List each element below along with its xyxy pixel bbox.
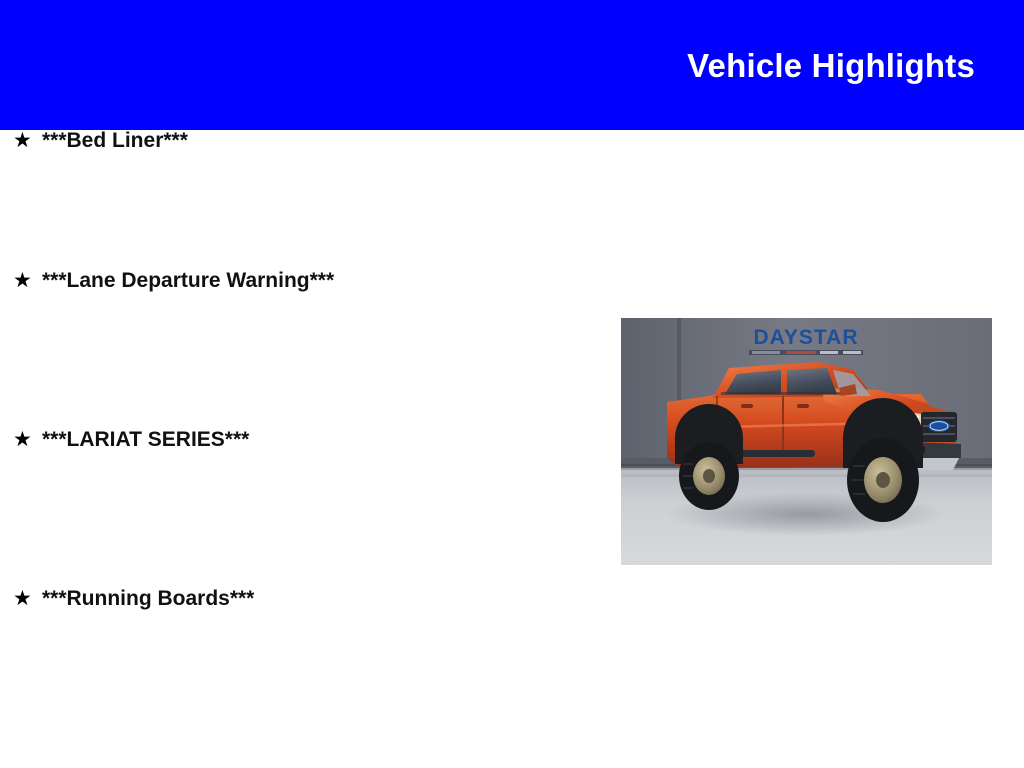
list-item: ★ ***Running Boards*** xyxy=(0,588,620,747)
vehicle-photo-image: DAYSTAR xyxy=(621,318,992,565)
dealer-sign-icon: DAYSTAR xyxy=(749,326,863,355)
svg-text:DAYSTAR: DAYSTAR xyxy=(753,326,858,349)
list-item: ★ ***LARIAT SERIES*** xyxy=(0,429,620,588)
page-title: Vehicle Highlights xyxy=(687,49,1024,82)
star-icon: ★ xyxy=(13,270,42,291)
highlight-label-lane-departure-warning: ***Lane Departure Warning*** xyxy=(42,270,334,291)
list-item: ★ ***Lane Departure Warning*** xyxy=(0,270,620,429)
star-icon: ★ xyxy=(13,429,42,450)
star-icon: ★ xyxy=(13,130,42,151)
list-item: ★ ***Bed Liner*** xyxy=(0,130,620,270)
vehicle-highlights-list: ★ ***Bed Liner*** ★ ***Lane Departure Wa… xyxy=(0,130,620,747)
highlight-label-lariat-series: ***LARIAT SERIES*** xyxy=(42,429,249,450)
header-bar: Vehicle Highlights xyxy=(0,0,1024,130)
highlight-label-running-boards: ***Running Boards*** xyxy=(42,588,254,609)
star-icon: ★ xyxy=(13,588,42,609)
highlight-label-bed-liner: ***Bed Liner*** xyxy=(42,130,188,151)
vehicle-photo: DAYSTAR xyxy=(621,318,992,565)
